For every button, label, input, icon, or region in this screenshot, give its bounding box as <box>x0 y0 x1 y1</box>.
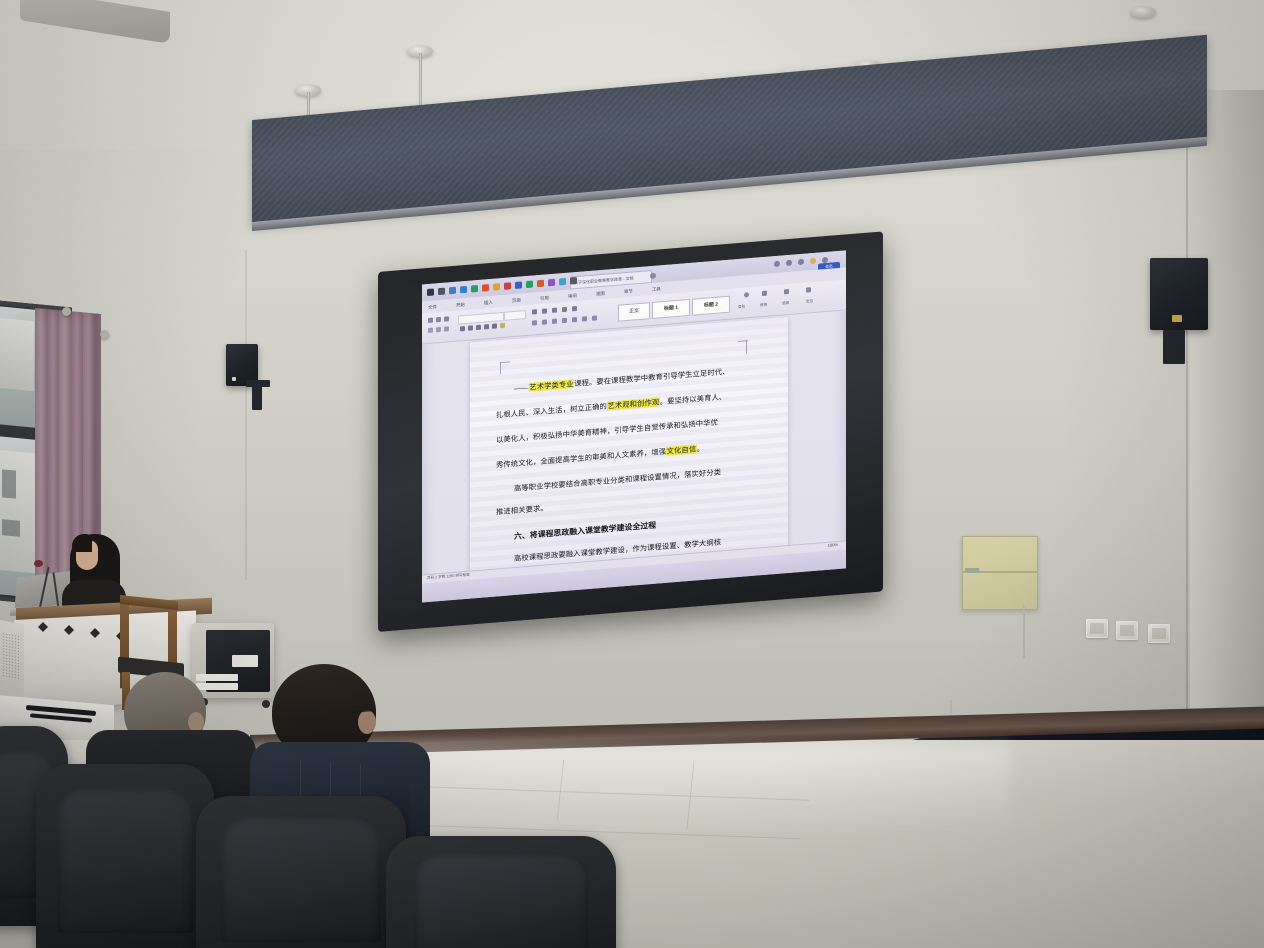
style-normal[interactable]: 正文 <box>618 302 650 322</box>
goto-label: 定位 <box>806 299 813 305</box>
numbered-list-icon[interactable] <box>542 308 547 313</box>
zoom-level[interactable]: 100% <box>828 542 838 548</box>
equipment-cart-label <box>232 655 258 667</box>
app-icon[interactable] <box>548 279 555 287</box>
cart-wheel <box>262 700 270 708</box>
wall-display-panel: 关于深化职业教育教学改革 - 文档 会员 文件 开始 插入 页面 引用 审阅 视… <box>378 231 883 632</box>
menu-item-0[interactable]: 文件 <box>428 304 437 311</box>
menu-item-4[interactable]: 引用 <box>540 295 549 302</box>
app-icon[interactable] <box>559 278 566 286</box>
attendee-ear <box>358 710 376 734</box>
strikethrough-icon[interactable] <box>484 324 489 329</box>
redo-icon[interactable] <box>444 326 449 331</box>
presenter-fringe <box>72 534 92 552</box>
cart-shelf-item <box>196 683 238 690</box>
italic-icon[interactable] <box>468 325 473 330</box>
curtain-hook <box>100 330 109 339</box>
doc-line-1: 扎根人民、深入生活，树立正确的艺术观和创作观。要坚持以美育人、 <box>496 393 726 419</box>
display-screen-content: 关于深化职业教育教学改革 - 文档 会员 文件 开始 插入 页面 引用 审阅 视… <box>422 250 846 602</box>
audience-chair[interactable] <box>386 836 616 948</box>
light-rod-cap <box>1130 6 1156 18</box>
replace-icon[interactable] <box>762 291 767 296</box>
building-outside <box>0 450 40 574</box>
doc-line-3: 秀传统文化，全面提高学生的审美和人文素养，增强文化自信。 <box>496 445 704 469</box>
wall-seam <box>245 250 247 580</box>
folder-icon[interactable] <box>493 283 500 291</box>
start-menu-icon[interactable] <box>427 288 434 296</box>
doc-line-4: 高等职业学校要结合高职专业分类和课程设置情况，落实好分类 <box>514 468 721 492</box>
pdf-icon[interactable] <box>504 282 511 290</box>
highlight-color-icon[interactable] <box>492 323 497 328</box>
crop-mark <box>746 340 747 354</box>
decrease-indent-icon[interactable] <box>562 307 567 312</box>
browser-icon[interactable] <box>482 284 489 292</box>
audience-chair[interactable] <box>196 796 406 948</box>
doc-line-2: 以美化人，积极弘扬中华美育精神，引导学生自觉传承和弘扬中华优 <box>496 419 718 444</box>
increase-indent-icon[interactable] <box>572 306 577 311</box>
wechat-icon[interactable] <box>471 285 478 293</box>
wps-sheet-icon[interactable] <box>526 281 533 289</box>
speaker-bracket-right <box>1163 330 1185 364</box>
underline-icon[interactable] <box>476 325 481 330</box>
menu-item-2[interactable]: 插入 <box>484 300 493 307</box>
menu-item-8[interactable]: 工具 <box>652 286 661 293</box>
panel-conduit <box>1023 606 1025 658</box>
doc-line-0: ——艺术学类专业课程。要在课程教学中教育引导学生立足时代、 <box>514 368 730 393</box>
crop-mark <box>500 361 510 363</box>
doc-line-5: 推进相关要求。 <box>496 504 548 515</box>
doc-heading-6: 六、将课程思政融入课堂教学建设全过程 <box>514 522 656 541</box>
explorer-icon[interactable] <box>460 286 467 294</box>
light-switch-2[interactable] <box>1116 621 1138 640</box>
bold-icon[interactable] <box>460 326 465 331</box>
style-heading-2[interactable]: 标题 2 <box>692 296 730 316</box>
speaker-bracket-left <box>246 380 270 387</box>
select-label: 选择 <box>782 301 789 307</box>
speaker-led-right <box>1172 315 1182 322</box>
microphone-head <box>34 560 43 567</box>
attendee-ear <box>188 712 204 732</box>
crop-mark <box>500 362 501 374</box>
replace-label: 替换 <box>760 303 767 309</box>
light-switch-3[interactable] <box>1148 624 1170 643</box>
document-page[interactable]: ——艺术学类专业课程。要在课程教学中教育引导学生立足时代、 扎根人民、深入生活，… <box>470 317 788 585</box>
borders-icon[interactable] <box>592 315 597 320</box>
align-right-icon[interactable] <box>552 319 557 324</box>
lectern-speaker-grille <box>2 632 19 679</box>
wps-present-icon[interactable] <box>537 280 544 288</box>
menu-item-5[interactable]: 审阅 <box>568 293 577 300</box>
shading-icon[interactable] <box>582 316 587 321</box>
audience-chair[interactable] <box>36 764 214 948</box>
copy-icon[interactable] <box>444 316 449 321</box>
menu-item-3[interactable]: 页面 <box>512 298 521 305</box>
format-painter-icon[interactable] <box>428 328 433 333</box>
right-wall <box>1190 90 1264 790</box>
align-left-icon[interactable] <box>532 320 537 325</box>
search-icon[interactable] <box>438 288 445 296</box>
panel-latch <box>965 568 979 573</box>
building-window <box>2 519 20 537</box>
wall-seam <box>1186 110 1188 770</box>
electrical-panel <box>962 536 1038 610</box>
font-size-select[interactable] <box>504 310 526 321</box>
building-outside <box>0 318 34 391</box>
light-switch-1[interactable] <box>1086 619 1108 638</box>
wps-writer-icon[interactable] <box>515 281 522 289</box>
bullet-list-icon[interactable] <box>532 309 537 314</box>
paste-icon[interactable] <box>428 318 433 323</box>
app-icon[interactable] <box>570 277 577 285</box>
multilevel-list-icon[interactable] <box>552 308 557 313</box>
cart-shelf-item <box>196 674 238 681</box>
cut-icon[interactable] <box>436 317 441 322</box>
select-icon[interactable] <box>784 289 789 294</box>
goto-icon[interactable] <box>806 287 811 292</box>
align-center-icon[interactable] <box>542 319 547 324</box>
justify-icon[interactable] <box>562 318 567 323</box>
building-window <box>2 469 16 498</box>
style-heading-1[interactable]: 标题 1 <box>652 299 690 319</box>
curtain-hook <box>62 307 71 316</box>
speaker-led-left <box>232 377 236 381</box>
classroom-photo: 关于深化职业教育教学改革 - 文档 会员 文件 开始 插入 页面 引用 审阅 视… <box>0 0 1264 948</box>
line-spacing-icon[interactable] <box>572 317 577 322</box>
undo-icon[interactable] <box>436 327 441 332</box>
font-color-icon[interactable] <box>500 323 505 328</box>
find-label: 查找 <box>738 304 745 310</box>
menu-item-1[interactable]: 开始 <box>456 302 465 309</box>
menu-item-7[interactable]: 章节 <box>624 288 633 295</box>
menu-item-6[interactable]: 视图 <box>596 291 605 298</box>
taskview-icon[interactable] <box>449 287 456 295</box>
